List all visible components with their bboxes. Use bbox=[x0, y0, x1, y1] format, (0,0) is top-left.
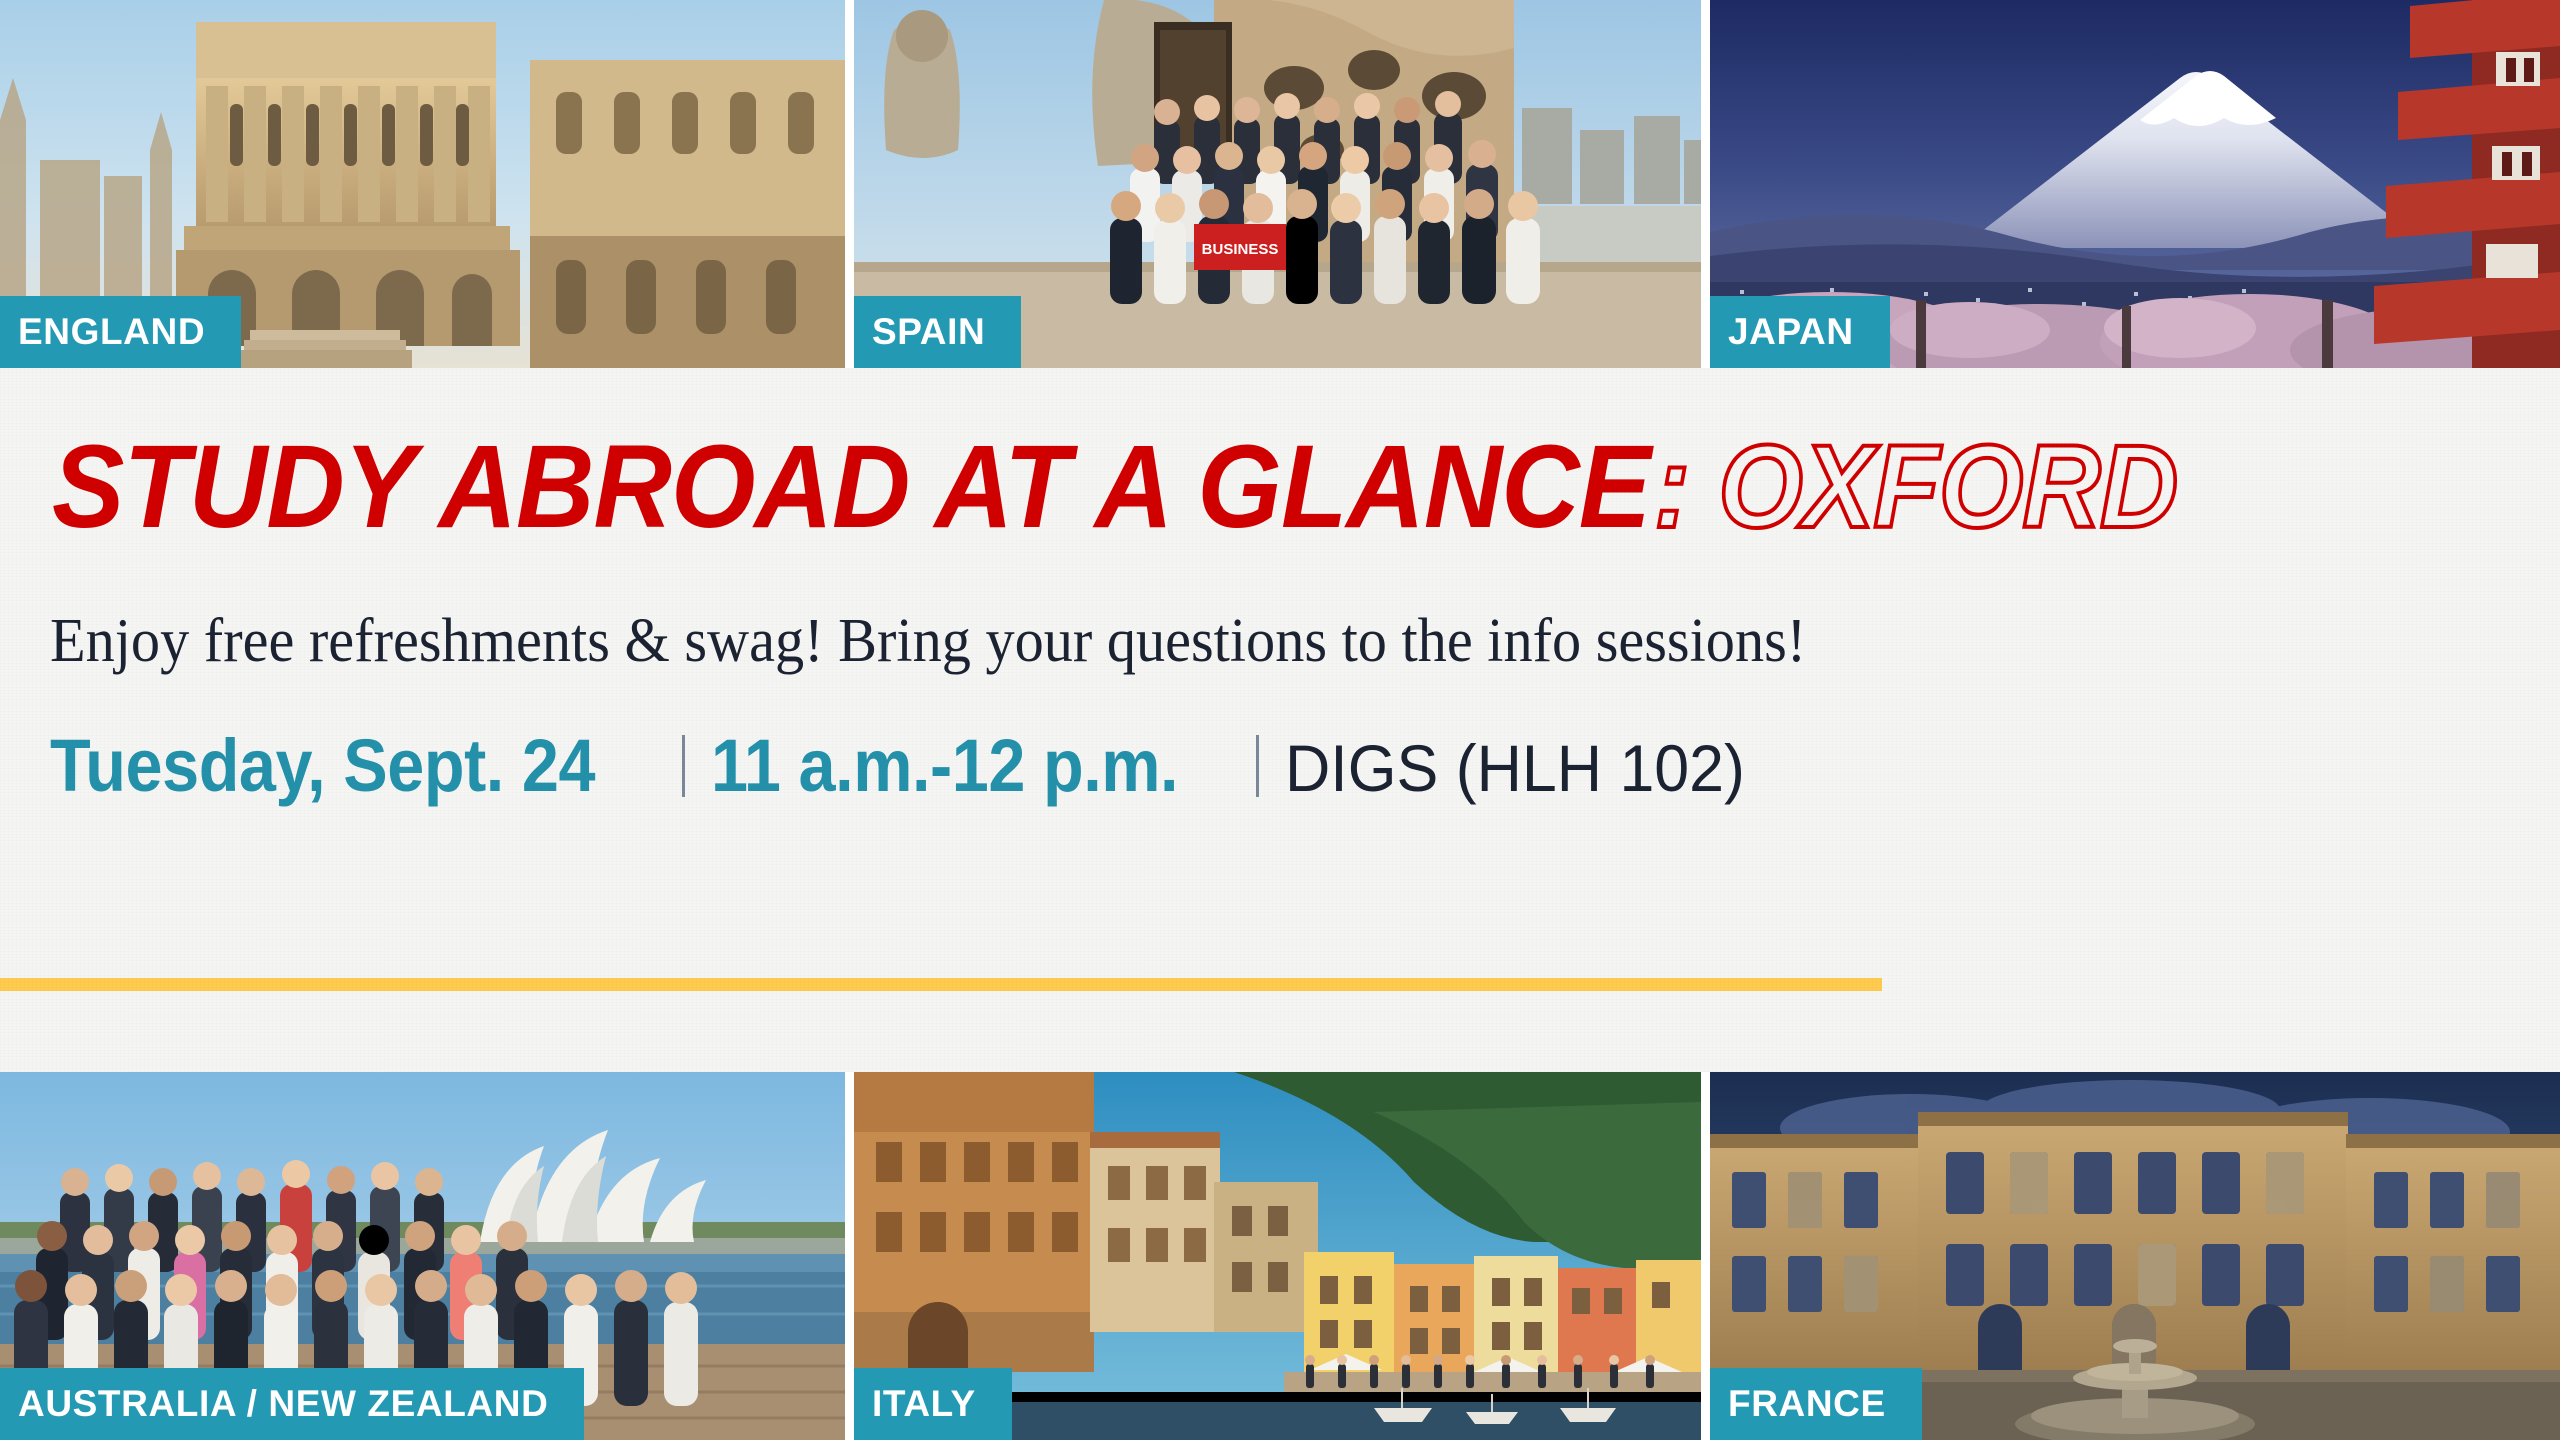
event-date: Tuesday, Sept. 24 bbox=[50, 723, 595, 808]
photo-row-top: ENGLAND bbox=[0, 0, 2560, 368]
photo-italy: ITALY bbox=[854, 1072, 1701, 1440]
photo-tag-france: FRANCE bbox=[1710, 1368, 1922, 1440]
photo-row-bottom: AUSTRALIA / NEW ZEALAND bbox=[0, 1072, 2560, 1440]
page-title: STUDY ABROAD AT A GLANCE: OXFORD bbox=[52, 428, 2177, 546]
photo-france: FRANCE bbox=[1710, 1072, 2560, 1440]
page-title-solid: STUDY ABROAD AT A GLANCE bbox=[52, 421, 1650, 553]
photo-australia-new-zealand: AUSTRALIA / NEW ZEALAND bbox=[0, 1072, 845, 1440]
poster-canvas: ENGLAND bbox=[0, 0, 2560, 1440]
photo-england: ENGLAND bbox=[0, 0, 845, 368]
event-location: DIGS (HLH 102) bbox=[1285, 730, 1745, 806]
svg-text:BUSINESS: BUSINESS bbox=[1202, 241, 1279, 258]
photo-tag-spain: SPAIN bbox=[854, 296, 1021, 368]
photo-tag-australia-new-zealand: AUSTRALIA / NEW ZEALAND bbox=[0, 1368, 584, 1440]
photo-tag-japan: JAPAN bbox=[1710, 296, 1890, 368]
event-details: Tuesday, Sept. 24 11 a.m.-12 p.m. DIGS (… bbox=[50, 723, 1769, 808]
photo-japan: JAPAN bbox=[1710, 0, 2560, 368]
content-band: STUDY ABROAD AT A GLANCE: OXFORD Enjoy f… bbox=[0, 368, 2560, 1072]
event-time: 11 a.m.-12 p.m. bbox=[711, 723, 1178, 808]
page-title-outline: : OXFORD bbox=[1654, 421, 2177, 553]
subheadline: Enjoy free refreshments & swag! Bring yo… bbox=[50, 606, 1806, 677]
photo-spain: BUSINESS SPAIN bbox=[854, 0, 1701, 368]
gold-divider-rule bbox=[0, 978, 1882, 991]
photo-tag-italy: ITALY bbox=[854, 1368, 1012, 1440]
detail-separator-2 bbox=[1256, 735, 1259, 797]
photo-tag-england: ENGLAND bbox=[0, 296, 241, 368]
detail-separator-1 bbox=[682, 735, 685, 797]
